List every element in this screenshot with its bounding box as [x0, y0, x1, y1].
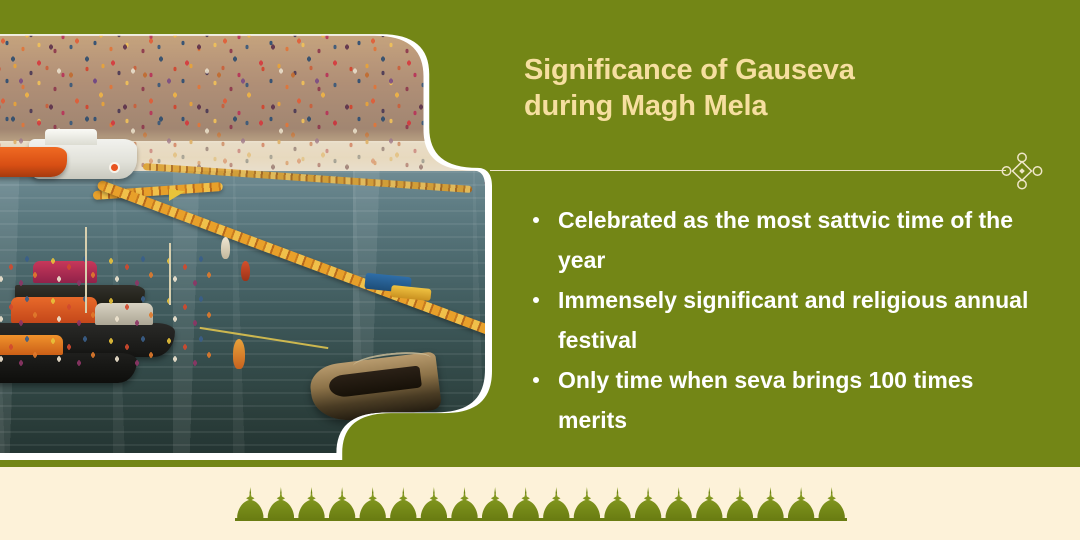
dome-motif	[451, 487, 477, 519]
dome-motif	[635, 487, 661, 519]
title-line-2: during Magh Mela	[524, 88, 1024, 124]
dome-motif	[757, 487, 783, 519]
dome-border-svg	[235, 485, 847, 525]
dome-motif	[696, 487, 722, 519]
dome-motif	[360, 487, 386, 519]
list-item: Only time when seva brings 100 times mer…	[524, 360, 1034, 440]
dome-motif	[513, 487, 539, 519]
list-item: Immensely significant and religious annu…	[524, 280, 1034, 360]
dome-motif	[727, 487, 753, 519]
magh-mela-photo	[0, 21, 485, 453]
photo-boat-mast	[169, 243, 171, 305]
dome-motif	[482, 487, 508, 519]
photo-bather	[221, 237, 230, 259]
bullet-text: Only time when seva brings 100 times mer…	[558, 367, 973, 433]
photo-panel	[0, 14, 492, 460]
bullet-text: Celebrated as the most sattvic time of t…	[558, 207, 1013, 273]
dome-motif	[268, 487, 294, 519]
bullet-text: Immensely significant and religious annu…	[558, 287, 1028, 353]
slide-canvas: Significance of Gauseva during Magh Mela…	[0, 0, 1080, 540]
dome-motif	[574, 487, 600, 519]
photo-orange-boat	[0, 147, 67, 177]
photo-boat-mast	[85, 227, 87, 313]
dome-motif	[421, 487, 447, 519]
photo-moored-boat-cluster	[0, 231, 237, 411]
photo-bather	[241, 261, 250, 281]
title-line-1: Significance of Gauseva	[524, 52, 1024, 88]
dome-motif	[543, 487, 569, 519]
page-title: Significance of Gauseva during Magh Mela	[524, 52, 1024, 124]
photo-lifebuoy	[109, 162, 120, 173]
title-divider-line	[490, 170, 1006, 171]
bullet-list: Celebrated as the most sattvic time of t…	[524, 200, 1034, 440]
dome-motif	[298, 487, 324, 519]
dome-motif	[666, 487, 692, 519]
dome-motif	[237, 487, 263, 519]
dome-kalash-border	[235, 485, 847, 525]
knot-flourish-ornament	[1000, 152, 1044, 190]
photo-clip-region	[0, 21, 485, 453]
dome-motif	[329, 487, 355, 519]
dome-motif	[819, 487, 845, 519]
dome-motif	[390, 487, 416, 519]
photo-bather	[233, 339, 245, 369]
list-item: Celebrated as the most sattvic time of t…	[524, 200, 1034, 280]
photo-ferry-cabin	[45, 129, 97, 145]
dome-motif	[788, 487, 814, 519]
photo-boat-passengers	[0, 253, 217, 373]
dome-motif	[604, 487, 630, 519]
